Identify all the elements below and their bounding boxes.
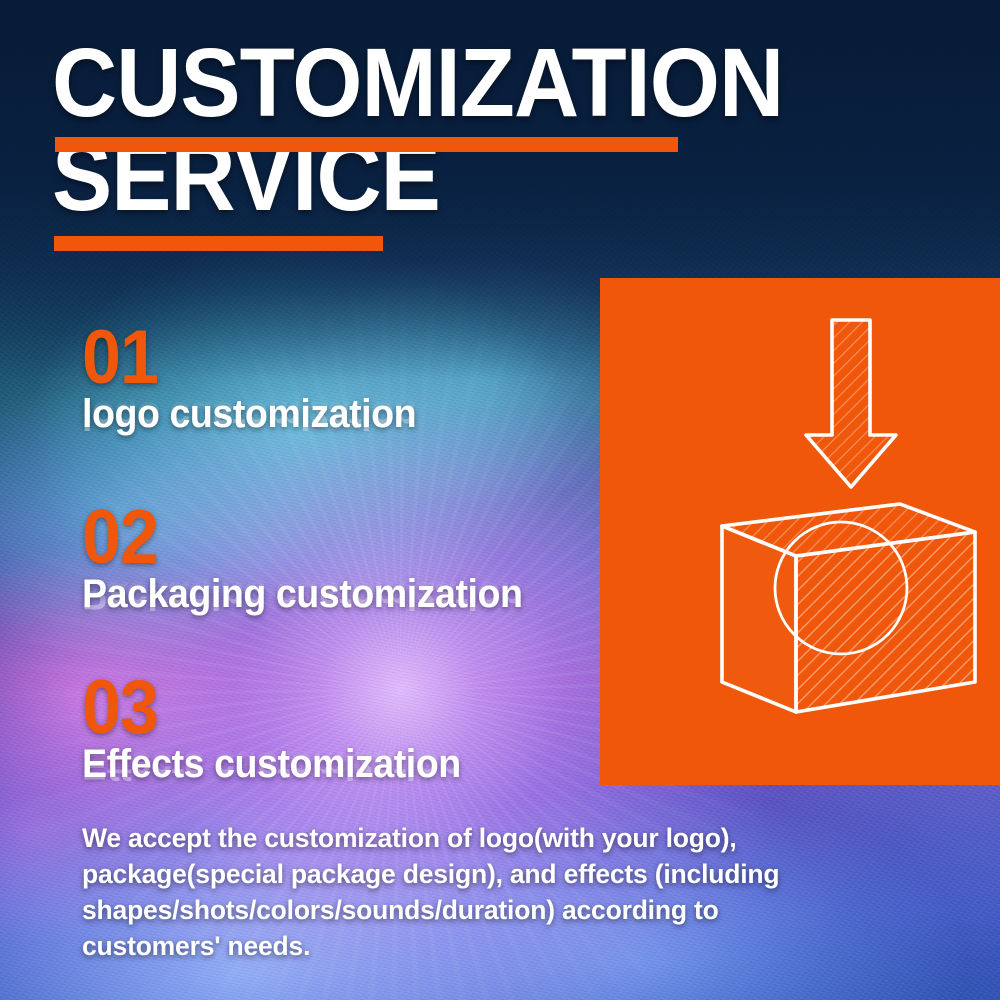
customization-service-poster: CUSTOMIZATION SERVICE 01 logo customizat… xyxy=(0,0,1000,1000)
service-item-01: 01 logo customization logo customization xyxy=(82,325,437,435)
description-paragraph: We accept the customization of logo(with… xyxy=(82,820,852,964)
service-label-wrap-03: Effects customization Effects customizat… xyxy=(82,744,485,785)
packaging-illustration-main xyxy=(600,278,1000,785)
headline-rule-1 xyxy=(55,137,678,152)
service-label-01: logo customization xyxy=(82,394,416,435)
headline-block: CUSTOMIZATION SERVICE xyxy=(52,38,752,222)
service-label-02: Packaging customization xyxy=(82,574,522,615)
headline-rule-2 xyxy=(54,236,383,251)
service-label-03: Effects customization xyxy=(82,744,461,785)
service-number-01: 01 xyxy=(82,325,409,390)
service-item-03: 03 Effects customization Effects customi… xyxy=(82,675,485,785)
service-label-wrap-01: logo customization logo customization xyxy=(82,394,437,435)
box-right-face xyxy=(796,532,975,712)
service-number-03: 03 xyxy=(82,675,453,740)
service-label-wrap-02: Packaging customization Packaging custom… xyxy=(82,574,551,615)
service-item-02: 02 Packaging customization Packaging cus… xyxy=(82,505,551,615)
headline-line-1: CUSTOMIZATION xyxy=(52,38,703,128)
service-number-02: 02 xyxy=(82,505,513,570)
